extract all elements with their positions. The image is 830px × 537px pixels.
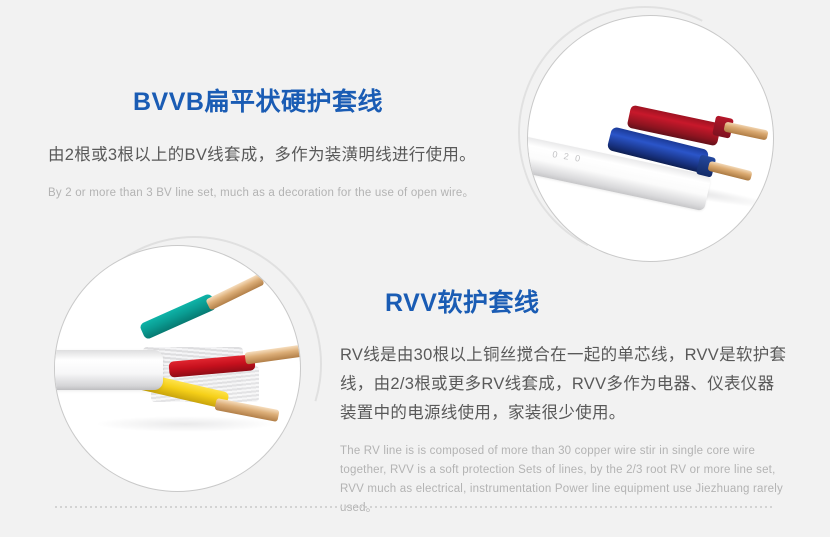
bvvb-english-description: By 2 or more than 3 BV line set, much as… xyxy=(48,184,508,203)
rvv-photo-artwork xyxy=(55,246,300,491)
rvv-heading: RVV软护套线 xyxy=(385,283,808,319)
rvv-text-block: RVV软护套线 RV线是由30根以上铜丝搅合在一起的单芯线，RVV是软护套线，由… xyxy=(340,283,808,518)
rvv-cable-photo xyxy=(55,246,300,491)
bvvb-heading: BVVB扁平状硬护套线 xyxy=(133,82,508,118)
rvv-chinese-description: RV线是由30根以上铜丝搅合在一起的单芯线，RVV是软护套线，由2/3根或更多R… xyxy=(340,341,788,428)
section-divider xyxy=(55,506,775,508)
rvv-cable-shadow xyxy=(95,416,275,432)
rvv-red-copper-core xyxy=(244,343,300,364)
bvvb-blue-copper-core xyxy=(707,161,752,181)
rvv-white-sheath xyxy=(55,350,163,390)
bvvb-cable-photo: 0 2 0 xyxy=(528,16,773,261)
product-info-page: BVVB扁平状硬护套线 由2根或3根以上的BV线套成，多作为装潢明线进行使用。 … xyxy=(0,0,830,518)
rvv-teal-copper-core xyxy=(205,273,264,310)
bvvb-sheath-print: 0 2 0 xyxy=(552,149,583,164)
bvvb-photo-artwork: 0 2 0 xyxy=(528,16,773,261)
bvvb-text-block: BVVB扁平状硬护套线 由2根或3根以上的BV线套成，多作为装潢明线进行使用。 … xyxy=(48,82,508,203)
bvvb-red-copper-core xyxy=(723,122,768,141)
bvvb-chinese-description: 由2根或3根以上的BV线套成，多作为装潢明线进行使用。 xyxy=(48,141,508,170)
